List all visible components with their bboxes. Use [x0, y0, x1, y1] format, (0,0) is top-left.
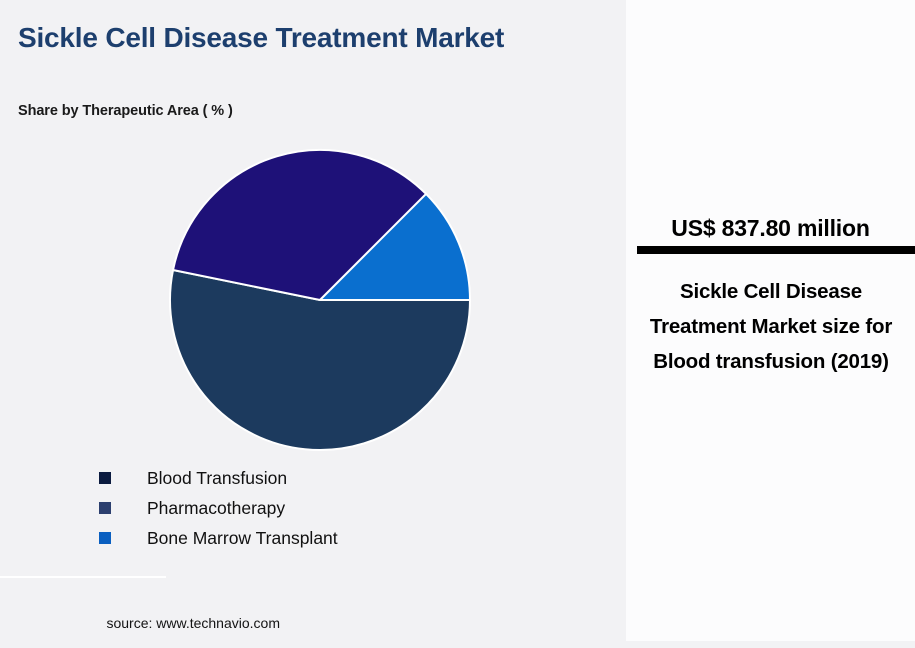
page-title: Sickle Cell Disease Treatment Market — [18, 22, 518, 53]
chart-legend: Blood Transfusion Pharmacotherapy Bone M… — [99, 463, 338, 553]
legend-label: Pharmacotherapy — [147, 498, 285, 519]
legend-label: Blood Transfusion — [147, 468, 287, 489]
infographic-root: Sickle Cell Disease Treatment Market Sha… — [0, 0, 915, 648]
source-note: source: www.technavio.com — [0, 615, 280, 631]
kpi-caption: Sickle Cell Disease Treatment Market siz… — [638, 274, 904, 379]
legend-swatch-icon — [99, 532, 111, 544]
kpi-underline — [637, 246, 915, 254]
legend-swatch-icon — [99, 472, 111, 484]
callout-panel: US$ 837.80 million Sickle Cell Disease T… — [626, 0, 915, 641]
divider — [0, 576, 166, 578]
chart-panel: Sickle Cell Disease Treatment Market Sha… — [0, 0, 620, 648]
legend-item-pharmacotherapy[interactable]: Pharmacotherapy — [99, 493, 338, 523]
legend-swatch-icon — [99, 502, 111, 514]
pie-chart-svg: Blood Transfusion: 53.2%Pharmacotherapy:… — [170, 150, 470, 450]
pie-chart: Blood Transfusion: 53.2%Pharmacotherapy:… — [170, 150, 470, 450]
legend-label: Bone Marrow Transplant — [147, 528, 338, 549]
legend-item-bone-marrow-transplant[interactable]: Bone Marrow Transplant — [99, 523, 338, 553]
kpi-value: US$ 837.80 million — [626, 215, 915, 242]
legend-item-blood-transfusion[interactable]: Blood Transfusion — [99, 463, 338, 493]
chart-subtitle: Share by Therapeutic Area ( % ) — [18, 103, 233, 119]
